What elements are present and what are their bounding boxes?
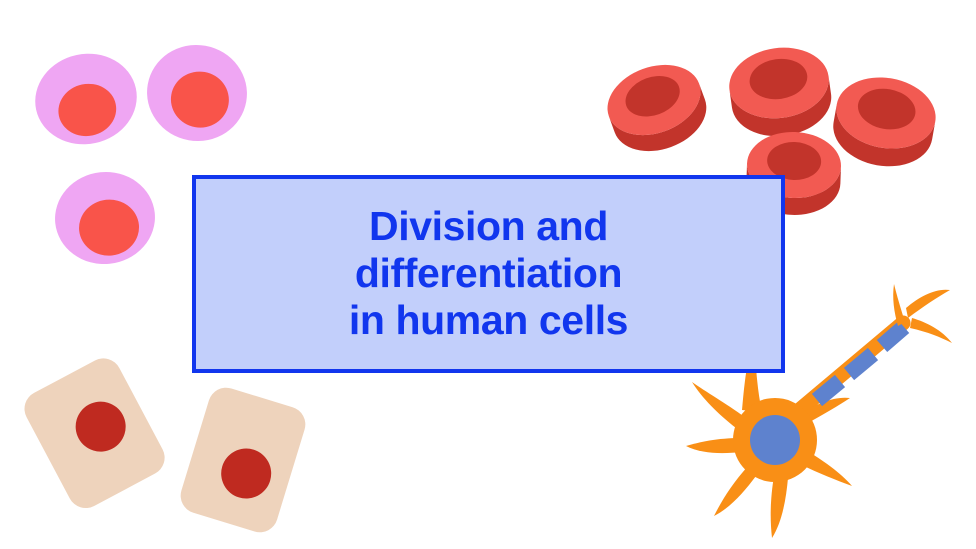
axon-terminal-branch [906, 290, 950, 318]
skin-cell-group [18, 352, 310, 537]
white-blood-cell [50, 167, 159, 269]
myelin-sheath-group [817, 327, 904, 400]
axon-terminal-branch [910, 318, 952, 343]
page-title: Division and differentiation in human ce… [349, 203, 628, 346]
dendrite [771, 476, 788, 538]
red-blood-cell [725, 41, 836, 142]
red-blood-cell [598, 53, 717, 164]
slide-canvas: Division and differentiation in human ce… [0, 0, 976, 549]
white-blood-cell [27, 44, 145, 153]
neuron-nucleus [750, 415, 800, 465]
red-blood-cell [828, 70, 942, 174]
skin-cell [18, 352, 171, 514]
title-panel: Division and differentiation in human ce… [192, 175, 785, 373]
skin-cell [176, 383, 310, 537]
white-blood-cell [139, 37, 254, 149]
axon-terminal-branch [893, 284, 905, 326]
